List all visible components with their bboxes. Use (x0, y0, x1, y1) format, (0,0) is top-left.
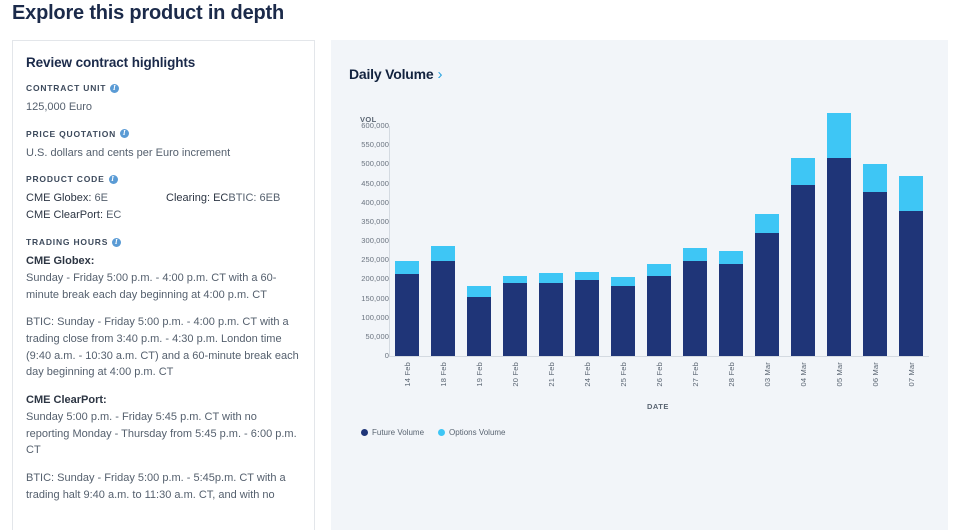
hours-globex-btic: BTIC: Sunday - Friday 5:00 p.m. - 4:00 p… (26, 314, 301, 381)
trading-hours-label-text: TRADING HOURS (26, 237, 108, 247)
bar-column[interactable] (863, 164, 887, 356)
product-code-clearport: CME ClearPort: EC (26, 207, 166, 224)
x-axis-line (389, 356, 929, 357)
card-heading: Review contract highlights (26, 55, 301, 70)
bar-segment-options-volume[interactable] (755, 214, 779, 233)
x-tick-label: 07 Mar (907, 362, 916, 387)
x-tick-label: 21 Feb (547, 362, 556, 387)
bar-segment-future-volume[interactable] (395, 274, 419, 356)
price-quotation-label-text: PRICE QUOTATION (26, 129, 116, 139)
bar-column[interactable] (539, 273, 563, 356)
info-icon[interactable]: i (112, 238, 121, 247)
field-label-price-quotation: PRICE QUOTATION i (26, 129, 301, 139)
bar-column[interactable] (575, 272, 599, 356)
trading-hours-body: CME Globex: Sunday - Friday 5:00 p.m. - … (26, 253, 301, 503)
y-tick-label: 550,000 (331, 140, 389, 149)
globex-label: CME Globex: (26, 192, 91, 204)
legend-label: Options Volume (449, 428, 505, 437)
field-label-product-code: PRODUCT CODE i (26, 174, 301, 184)
bar-column[interactable] (503, 276, 527, 356)
bar-column[interactable] (431, 246, 455, 356)
info-icon[interactable]: i (109, 175, 118, 184)
bar-segment-options-volume[interactable] (791, 158, 815, 185)
clearport-label: CME ClearPort: (26, 209, 103, 221)
bar-segment-future-volume[interactable] (503, 283, 527, 356)
bar-segment-options-volume[interactable] (575, 272, 599, 281)
bar-segment-options-volume[interactable] (431, 246, 455, 261)
y-tick-label: 400,000 (331, 198, 389, 207)
bar-column[interactable] (755, 214, 779, 356)
bar-segment-future-volume[interactable] (899, 211, 923, 356)
bar-column[interactable] (899, 176, 923, 356)
spacer (26, 381, 301, 392)
field-label-contract-unit: CONTRACT UNIT i (26, 83, 301, 93)
product-code-label-text: PRODUCT CODE (26, 174, 105, 184)
y-tick-label: 350,000 (331, 217, 389, 226)
x-tick-label: 19 Feb (475, 362, 484, 387)
bar-segment-options-volume[interactable] (719, 251, 743, 264)
clearing-label: Clearing: EC (166, 192, 228, 204)
bar-segment-options-volume[interactable] (503, 276, 527, 284)
bar-segment-options-volume[interactable] (827, 113, 851, 157)
bars-container (389, 126, 929, 356)
x-tick-label: 06 Mar (871, 362, 880, 387)
x-tick-label: 20 Feb (511, 362, 520, 387)
price-quotation-value: U.S. dollars and cents per Euro incremen… (26, 145, 301, 162)
bar-column[interactable] (395, 261, 419, 356)
bar-segment-options-volume[interactable] (683, 248, 707, 262)
bar-segment-future-volume[interactable] (467, 297, 491, 356)
product-code-col-right: Clearing: ECBTIC: 6EB (166, 190, 280, 224)
x-tick-label: 27 Feb (691, 362, 700, 387)
bar-segment-future-volume[interactable] (431, 261, 455, 356)
y-tick-label: 450,000 (331, 179, 389, 188)
y-tick-label: 300,000 (331, 236, 389, 245)
globex-value: 6E (94, 192, 107, 204)
legend-label: Future Volume (372, 428, 424, 437)
info-icon[interactable]: i (110, 84, 119, 93)
product-code-values: CME Globex: 6E CME ClearPort: EC Clearin… (26, 190, 301, 224)
y-tick-label: 200,000 (331, 274, 389, 283)
x-tick-label: 28 Feb (727, 362, 736, 387)
y-tick-label: 500,000 (331, 159, 389, 168)
bar-segment-options-volume[interactable] (611, 277, 635, 286)
x-tick-label: 24 Feb (583, 362, 592, 387)
legend-color-swatch (438, 429, 445, 436)
bar-segment-future-volume[interactable] (539, 283, 563, 356)
y-tick-label: 250,000 (331, 255, 389, 264)
hours-globex-text: Sunday - Friday 5:00 p.m. - 4:00 p.m. CT… (26, 270, 301, 303)
info-icon[interactable]: i (120, 129, 129, 138)
daily-volume-panel: Daily Volume › VOL 050,000100,000150,000… (331, 40, 948, 530)
bar-column[interactable] (791, 158, 815, 356)
y-tick-label: 50,000 (331, 332, 389, 341)
x-tick-label: 05 Mar (835, 362, 844, 387)
bar-column[interactable] (827, 113, 851, 356)
legend-item[interactable]: Future Volume (361, 428, 424, 437)
bar-segment-future-volume[interactable] (611, 286, 635, 356)
bar-segment-future-volume[interactable] (719, 264, 743, 356)
bar-segment-options-volume[interactable] (395, 261, 419, 274)
bar-segment-future-volume[interactable] (755, 233, 779, 356)
bar-segment-options-volume[interactable] (863, 164, 887, 192)
chart-legend: Future VolumeOptions Volume (361, 428, 506, 437)
legend-item[interactable]: Options Volume (438, 428, 505, 437)
bar-segment-future-volume[interactable] (863, 192, 887, 356)
product-code-col-left: CME Globex: 6E CME ClearPort: EC (26, 190, 166, 224)
x-tick-label: 03 Mar (763, 362, 772, 387)
legend-color-swatch (361, 429, 368, 436)
x-tick-label: 18 Feb (439, 362, 448, 387)
x-axis-title: DATE (647, 402, 669, 411)
spacer (26, 459, 301, 470)
clearport-value: EC (106, 209, 121, 221)
bar-segment-options-volume[interactable] (539, 273, 563, 283)
product-code-clearing: Clearing: ECBTIC: 6EB (166, 190, 280, 207)
bar-segment-future-volume[interactable] (683, 261, 707, 356)
bar-segment-options-volume[interactable] (467, 286, 491, 298)
bar-column[interactable] (719, 251, 743, 356)
hours-clearport-text: Sunday 5:00 p.m. - Friday 5:45 p.m. CT w… (26, 409, 301, 459)
bar-segment-options-volume[interactable] (899, 176, 923, 212)
page-root: Explore this product in depth Review con… (0, 0, 960, 530)
hours-clearport-title: CME ClearPort: (26, 392, 301, 409)
hours-clearport-btic: BTIC: Sunday - Friday 5:00 p.m. - 5:45p.… (26, 470, 301, 503)
chart-plot-area: VOL 050,000100,000150,000200,000250,0003… (331, 40, 948, 530)
contract-highlights-card: Review contract highlights CONTRACT UNIT… (12, 40, 315, 530)
page-title: Explore this product in depth (12, 2, 284, 25)
product-code-globex: CME Globex: 6E (26, 190, 166, 207)
x-tick-label: 25 Feb (619, 362, 628, 387)
bar-segment-future-volume[interactable] (791, 185, 815, 356)
x-tick-label: 14 Feb (403, 362, 412, 387)
contract-unit-value: 125,000 Euro (26, 99, 301, 116)
x-tick-label: 26 Feb (655, 362, 664, 387)
y-tick-label: 150,000 (331, 294, 389, 303)
bar-segment-future-volume[interactable] (827, 158, 851, 356)
bar-segment-future-volume[interactable] (647, 276, 671, 357)
bar-column[interactable] (683, 248, 707, 356)
x-tick-label: 04 Mar (799, 362, 808, 387)
bar-column[interactable] (647, 264, 671, 356)
bar-column[interactable] (467, 286, 491, 356)
clearing-value: BTIC: 6EB (228, 192, 280, 204)
bar-segment-future-volume[interactable] (575, 280, 599, 356)
bar-segment-options-volume[interactable] (647, 264, 671, 276)
y-tick-label: 0 (331, 351, 389, 360)
hours-globex-title: CME Globex: (26, 253, 301, 270)
y-tick-label: 600,000 (331, 121, 389, 130)
field-label-trading-hours: TRADING HOURS i (26, 237, 301, 247)
contract-unit-label-text: CONTRACT UNIT (26, 83, 106, 93)
spacer (26, 303, 301, 314)
y-tick-label: 100,000 (331, 313, 389, 322)
bar-column[interactable] (611, 277, 635, 356)
